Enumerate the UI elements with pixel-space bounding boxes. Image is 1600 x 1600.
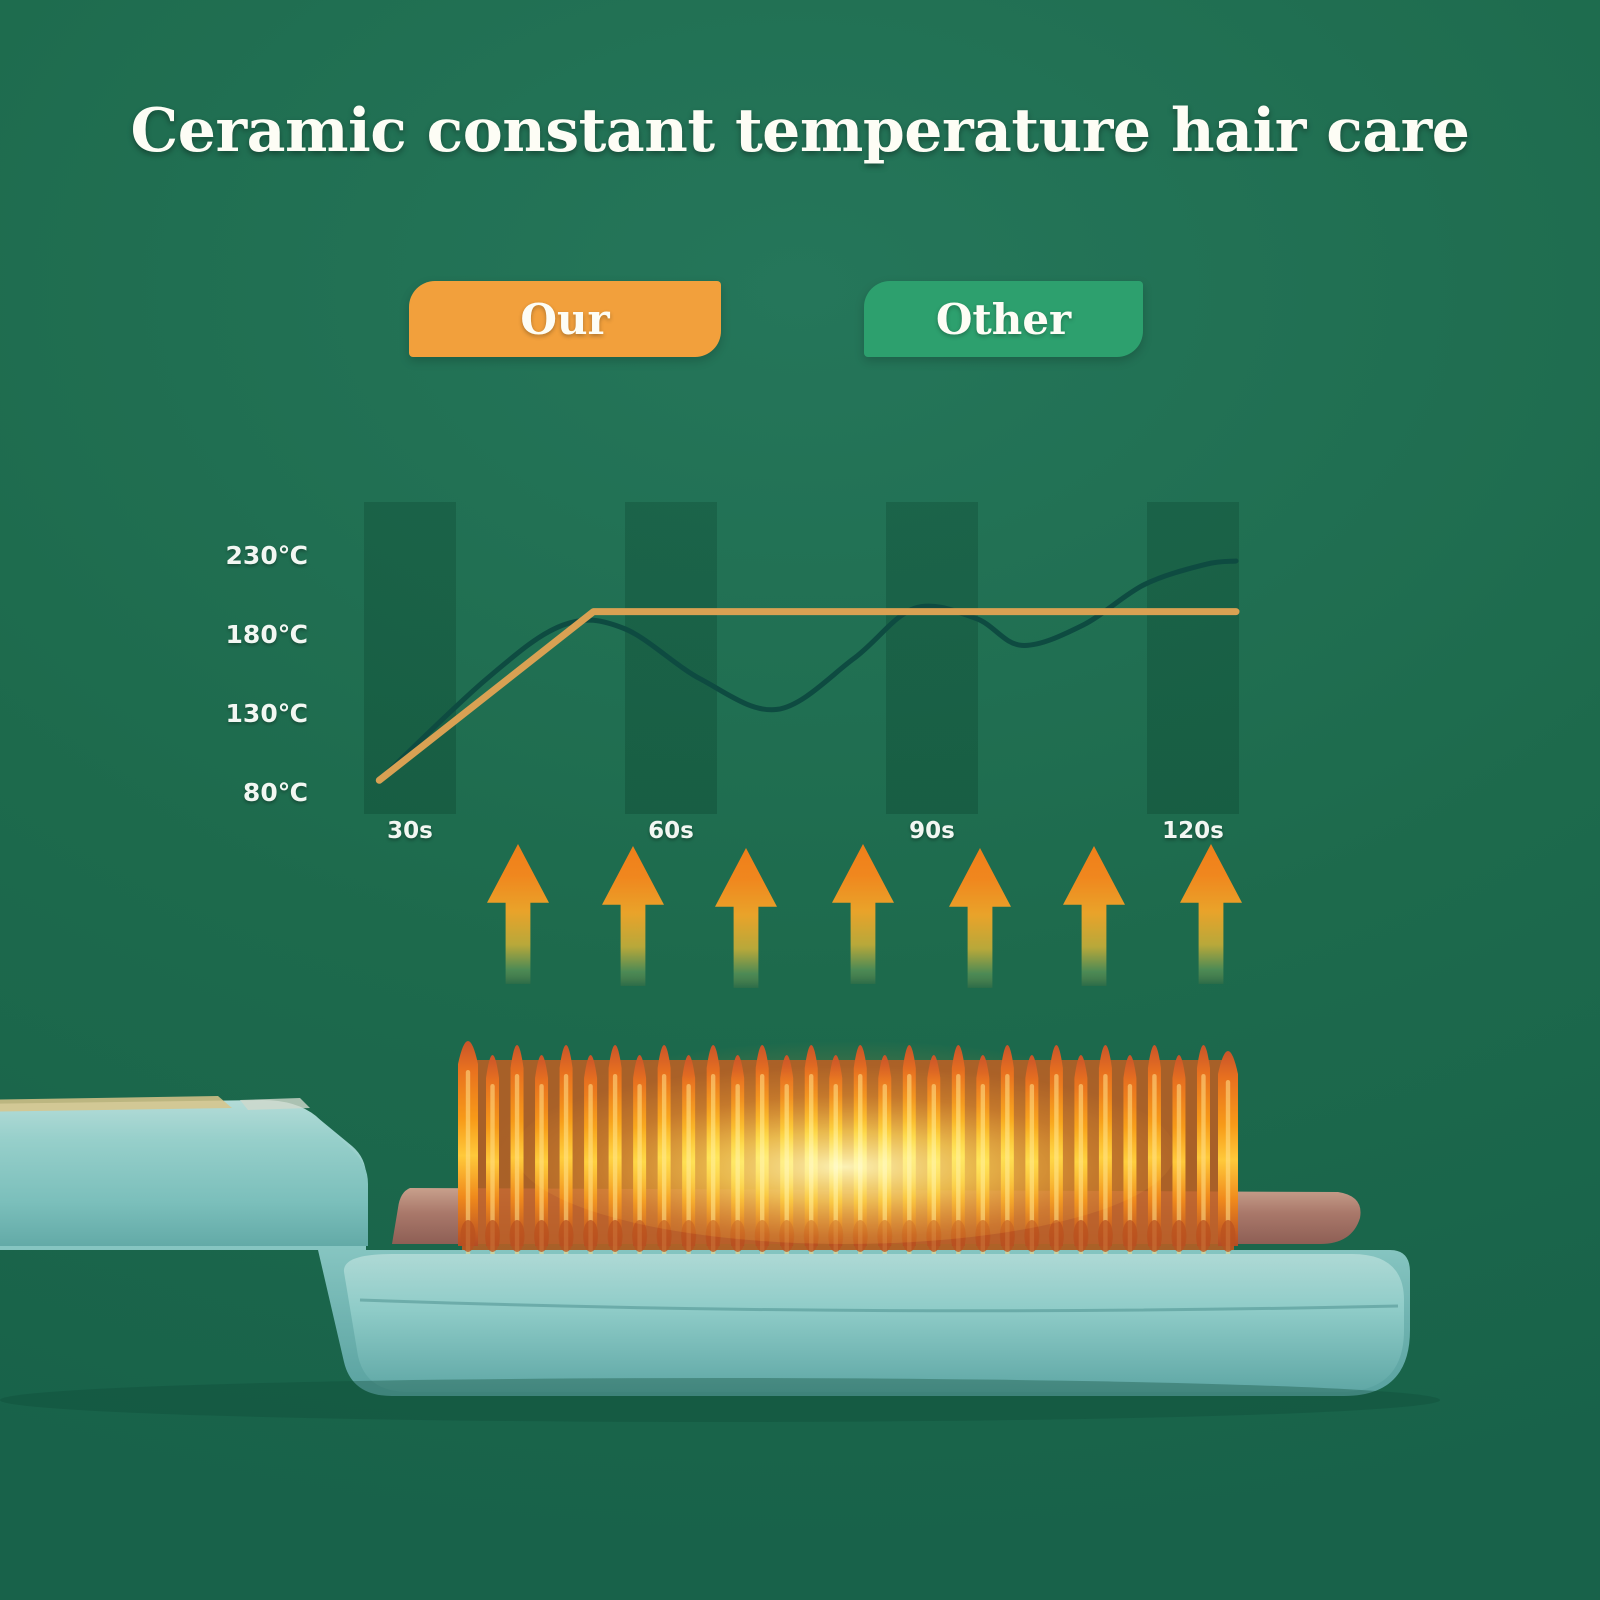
device-shadow [0, 1378, 1440, 1422]
comb-tooth-foot [1221, 1220, 1236, 1252]
comb-tooth-foot [1147, 1220, 1162, 1252]
page-background: Ceramic constant temperature hair care O… [0, 0, 1600, 1600]
comb-tooth-foot [1098, 1220, 1113, 1252]
comb-tooth-foot [1171, 1220, 1186, 1252]
comb-tooth-foot [1073, 1220, 1088, 1252]
comb-tooth-foot [485, 1220, 500, 1252]
comb-tooth-foot [461, 1220, 476, 1252]
product-illustration [0, 1000, 1600, 1600]
comb-tooth-foot [510, 1220, 525, 1252]
product-photo [0, 1000, 1600, 1600]
comb-tooth-foot [559, 1220, 574, 1252]
comb-tooth-foot [534, 1220, 549, 1252]
comb-tooth-foot [583, 1220, 598, 1252]
device-button-slot [240, 1098, 310, 1110]
comb-tooth-foot [608, 1220, 623, 1252]
comb-tooth-foot [1122, 1220, 1137, 1252]
comb-tooth-foot [1049, 1220, 1064, 1252]
series-other-line [379, 561, 1236, 780]
device-upper-handle [0, 1100, 368, 1246]
device-base [344, 1254, 1404, 1392]
comb-tooth-foot [1196, 1220, 1211, 1252]
comb-hot-core [515, 1060, 1175, 1244]
